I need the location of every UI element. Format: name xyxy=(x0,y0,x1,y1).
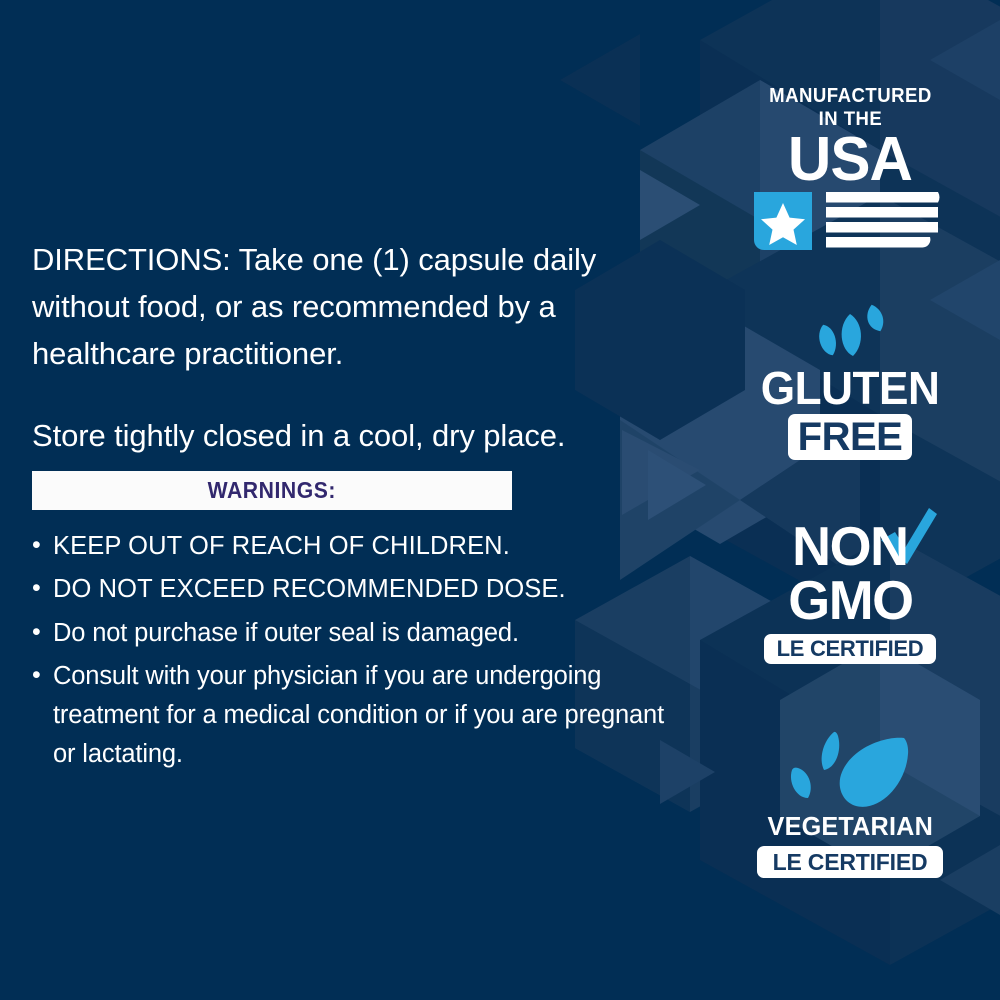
label-text-column: DIRECTIONS: Take one (1) capsule daily w… xyxy=(0,0,700,1000)
badge-gluten-headline: GLUTEN xyxy=(761,366,940,411)
list-item-label: Consult with your physician if you are u… xyxy=(53,662,664,769)
badge-vegetarian: VEGETARIAN LE CERTIFIED xyxy=(700,728,1000,878)
badge-vegetarian-headline: VEGETARIAN xyxy=(767,814,932,839)
leaves-icon xyxy=(780,728,920,814)
bullet-icon: • xyxy=(32,656,41,695)
badge-usa-line1: MANUFACTURED xyxy=(769,86,932,107)
bullet-icon: • xyxy=(32,569,41,608)
warnings-heading-label: WARNINGS: xyxy=(208,477,336,504)
list-item-label: KEEP OUT OF REACH OF CHILDREN. xyxy=(53,532,510,560)
list-item-label: Do not purchase if outer seal is damaged… xyxy=(53,619,519,647)
badge-usa-headline: USA xyxy=(788,131,912,190)
badge-gluten-pill: FREE xyxy=(788,414,912,460)
badge-gmo-line1: NON xyxy=(792,520,907,574)
warnings-heading-bar: WARNINGS: xyxy=(32,471,512,510)
bullet-icon: • xyxy=(32,613,41,652)
list-item: • DO NOT EXCEED RECOMMENDED DOSE. xyxy=(30,570,680,609)
badge-gluten-free: GLUTEN FREE xyxy=(700,300,1000,460)
warnings-list: • KEEP OUT OF REACH OF CHILDREN. • DO NO… xyxy=(30,527,680,779)
list-item: • KEEP OUT OF REACH OF CHILDREN. xyxy=(30,527,680,566)
badge-manufactured-usa: MANUFACTURED IN THE USA xyxy=(700,86,1000,252)
wheat-grain-icon xyxy=(791,300,909,366)
badge-gmo-line2: GMO xyxy=(788,574,912,628)
badge-gmo-pill: LE CERTIFIED xyxy=(764,634,936,664)
directions-paragraph: DIRECTIONS: Take one (1) capsule daily w… xyxy=(32,236,672,377)
storage-paragraph: Store tightly closed in a cool, dry plac… xyxy=(32,412,672,459)
badge-vegetarian-pill: LE CERTIFIED xyxy=(757,846,943,878)
badge-non-gmo: NON GMO LE CERTIFIED xyxy=(700,520,1000,664)
list-item-label: DO NOT EXCEED RECOMMENDED DOSE. xyxy=(53,575,566,603)
list-item: • Consult with your physician if you are… xyxy=(30,657,680,775)
certification-badge-column: MANUFACTURED IN THE USA xyxy=(700,0,1000,1000)
bullet-icon: • xyxy=(32,526,41,565)
usa-flag-icon xyxy=(752,190,948,252)
list-item: • Do not purchase if outer seal is damag… xyxy=(30,614,680,653)
